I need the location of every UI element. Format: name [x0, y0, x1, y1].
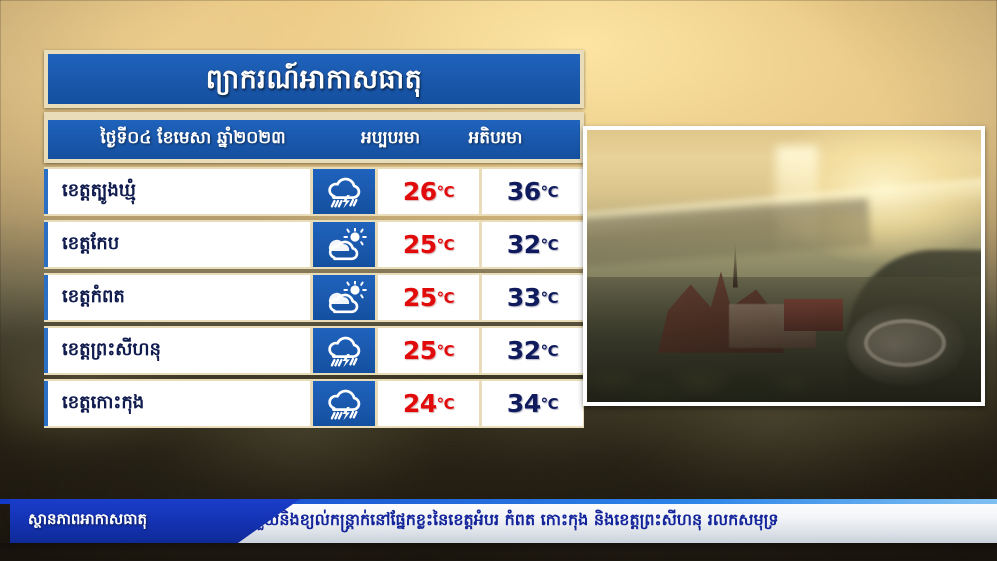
weather-rows: ខេត្តត្បូងឃ្មុំ26°C36°Cខេត្តកែប25°C32°Cខ…: [44, 167, 584, 428]
panel-subheader-frame: ថ្ងៃទី០៤ ខែមេសា ឆ្នាំ២០២៣ អប្បបរមា អតិបរ…: [44, 112, 584, 163]
max-temp-unit: °C: [541, 289, 559, 307]
max-temp-unit: °C: [541, 342, 559, 360]
table-row: ខេត្តកំពត25°C33°C: [44, 273, 584, 322]
weather-icon-cell: [313, 328, 375, 373]
max-temp-value: 32: [507, 230, 541, 259]
min-temp-unit: °C: [437, 183, 455, 201]
broadcast-screen: ព្យាករណ៍អាកាសធាតុ ថ្ងៃទី០៤ ខែមេសា ឆ្នាំ២…: [0, 0, 997, 561]
table-column-headers: ថ្ងៃទី០៤ ខែមេសា ឆ្នាំ២០២៣ អប្បបរមា អតិបរ…: [48, 120, 580, 159]
max-temperature: 34°C: [482, 381, 583, 426]
max-temperature: 33°C: [482, 275, 583, 320]
max-temperature: 36°C: [482, 169, 583, 214]
weather-icon-cell: [313, 381, 375, 426]
table-row: ខេត្តត្បូងឃ្មុំ26°C36°C: [44, 167, 584, 216]
min-temperature: 25°C: [378, 275, 479, 320]
max-temp-unit: °C: [541, 395, 559, 413]
ticker-label: ស្ថានភាពអាកាសធាតុ: [28, 510, 147, 532]
partly-cloudy-icon: [321, 281, 367, 315]
weather-icon-cell: [313, 275, 375, 320]
partly-cloudy-icon: [321, 228, 367, 262]
min-temp-unit: °C: [437, 342, 455, 360]
province-name: ខេត្តត្បូងឃ្មុំ: [44, 169, 310, 214]
min-temp-value: 26: [403, 177, 437, 206]
max-temperature: 32°C: [482, 328, 583, 373]
min-temperature: 25°C: [378, 222, 479, 267]
ticker-text: ន្លុះ ជាមួយនិងខ្យល់កន្ត្រាក់នៅផ្នែកខ្លះន…: [216, 499, 997, 543]
photo-frame: [583, 126, 985, 406]
max-temp-unit: °C: [541, 183, 559, 201]
min-temp-value: 25: [403, 336, 437, 365]
province-name: ខេត្តកោះកុង: [44, 381, 310, 426]
max-temp-value: 32: [507, 336, 541, 365]
news-ticker: ន្លុះ ជាមួយនិងខ្យល់កន្ត្រាក់នៅផ្នែកខ្លះន…: [0, 499, 997, 543]
panel-title-bar: ព្យាករណ៍អាកាសធាតុ: [48, 54, 580, 104]
min-temperature: 25°C: [378, 328, 479, 373]
weather-icon-cell: [313, 222, 375, 267]
header-max-label: អតិបរមា: [443, 127, 548, 152]
thunderstorm-icon: [321, 334, 367, 368]
max-temp-unit: °C: [541, 236, 559, 254]
province-name: ខេត្តកំពត: [44, 275, 310, 320]
max-temp-value: 33: [507, 283, 541, 312]
min-temp-unit: °C: [437, 236, 455, 254]
min-temperature: 26°C: [378, 169, 479, 214]
weather-icon-cell: [313, 169, 375, 214]
min-temp-unit: °C: [437, 289, 455, 307]
header-min-label: អប្បបរមា: [338, 127, 443, 152]
panel-title-frame: ព្យាករណ៍អាកាសធាតុ: [44, 50, 584, 108]
min-temp-unit: °C: [437, 395, 455, 413]
table-row: ខេត្តកែប25°C32°C: [44, 220, 584, 269]
max-temperature: 32°C: [482, 222, 583, 267]
header-date: ថ្ងៃទី០៤ ខែមេសា ឆ្នាំ២០២៣: [48, 127, 338, 152]
max-temp-value: 34: [507, 389, 541, 418]
thunderstorm-icon: [321, 175, 367, 209]
page-title: ព្យាករណ៍អាកាសធាតុ: [206, 66, 423, 93]
min-temp-value: 25: [403, 230, 437, 259]
atmospheric-haze: [587, 130, 981, 402]
min-temperature: 24°C: [378, 381, 479, 426]
min-temp-value: 25: [403, 283, 437, 312]
max-temp-value: 36: [507, 177, 541, 206]
ticker-dropshadow: [0, 543, 997, 552]
weather-forecast-panel: ព្យាករណ៍អាកាសធាតុ ថ្ងៃទី០៤ ខែមេសា ឆ្នាំ២…: [44, 50, 584, 428]
scenery-photo: [587, 130, 981, 402]
table-row: ខេត្តកោះកុង24°C34°C: [44, 379, 584, 428]
province-name: ខេត្តព្រះសីហនុ: [44, 328, 310, 373]
thunderstorm-icon: [321, 387, 367, 421]
province-name: ខេត្តកែប: [44, 222, 310, 267]
table-row: ខេត្តព្រះសីហនុ25°C32°C: [44, 326, 584, 375]
min-temp-value: 24: [403, 389, 437, 418]
